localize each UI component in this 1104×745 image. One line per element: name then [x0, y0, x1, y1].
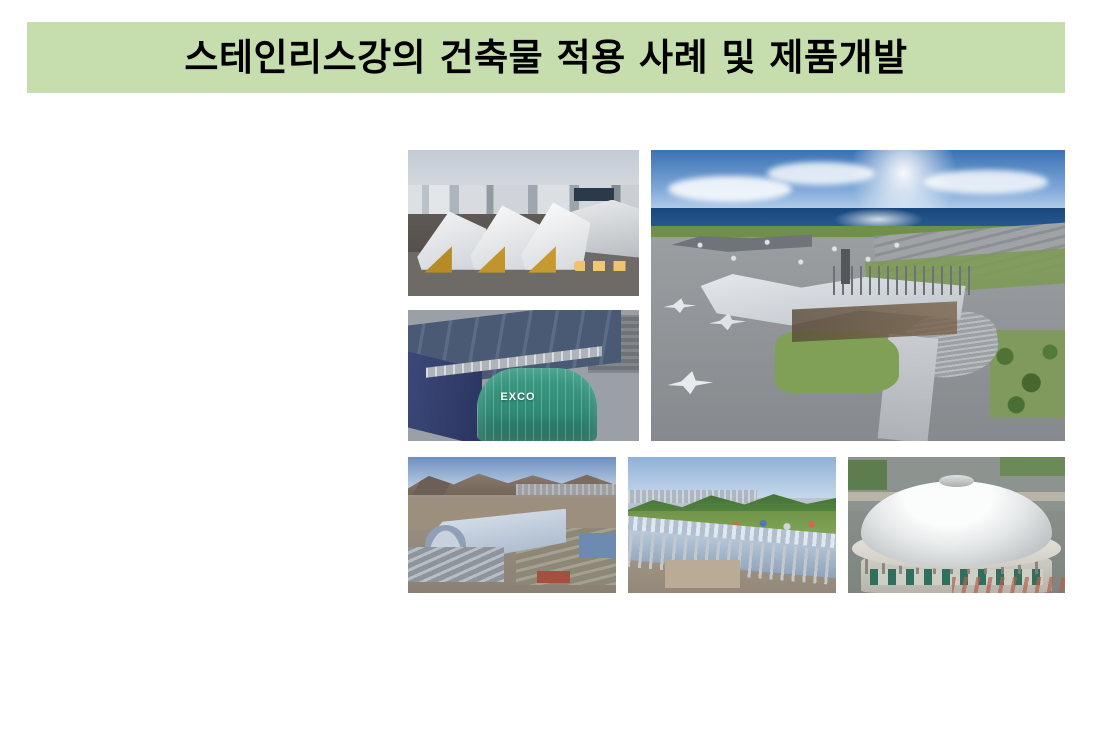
distant-town [516, 484, 616, 495]
image-bexco-convention-center [408, 150, 639, 296]
platform-canopies [408, 547, 504, 582]
red-roof-shed [537, 571, 570, 583]
presentation-slide: 스테인리스강의 건축물 적용 사례 및 제품개발 [0, 0, 1104, 745]
lawn-right [1000, 457, 1065, 476]
station-barrel-scene [408, 457, 616, 593]
distant-city [628, 490, 757, 504]
side-building [579, 533, 616, 557]
lawn-left [848, 460, 887, 490]
station-valley-scene [628, 457, 836, 593]
image-sports-dome-arena [848, 457, 1065, 593]
exco-building-label: EXCO [500, 391, 535, 403]
bexco-scene [408, 150, 639, 296]
image-exco-exhibition-center: EXCO [408, 310, 639, 441]
construction-area [665, 560, 740, 587]
billboard-sign [574, 188, 613, 201]
image-incheon-airport-terminal [651, 150, 1065, 441]
glass-mullions [477, 368, 597, 441]
page-title: 스테인리스강의 건축물 적용 사례 및 제품개발 [184, 39, 907, 76]
exco-scene: EXCO [408, 310, 639, 441]
dome-scene [848, 457, 1065, 593]
dome-apex-cap [939, 475, 974, 487]
image-ktx-station-barrel-roof [408, 457, 616, 593]
boarding-piers [833, 266, 974, 295]
entrance-lights [574, 261, 634, 271]
slide-footer: HANLIM E&C HANLIM Engineering & Construc… [0, 686, 1104, 741]
control-tower [841, 249, 849, 284]
tree-belt [990, 330, 1065, 417]
red-paving-edge [952, 577, 1065, 593]
airport-scene [651, 150, 1065, 441]
image-ktx-station-valley [628, 457, 836, 593]
slide-title-banner: 스테인리스강의 건축물 적용 사례 및 제품개발 [27, 22, 1065, 93]
